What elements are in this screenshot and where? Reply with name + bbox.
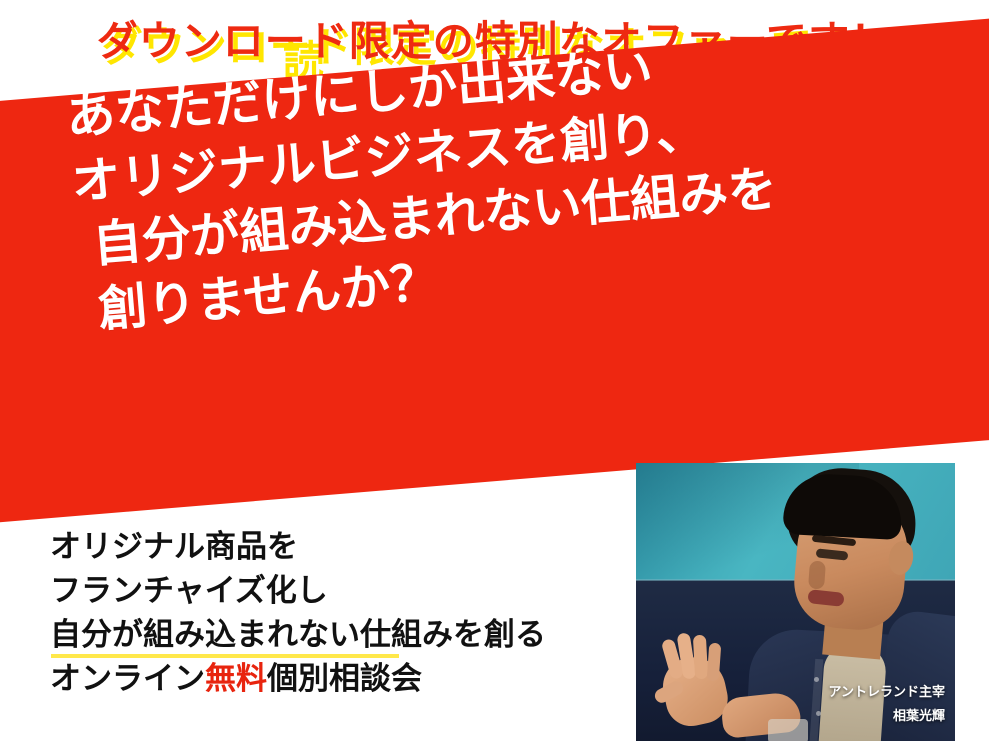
subcopy-line-4-prefix: オンライン bbox=[50, 661, 205, 696]
photo-shirt-button bbox=[814, 677, 819, 682]
photo-shirt-button bbox=[816, 711, 821, 716]
subcopy-line-1: オリジナル商品を bbox=[50, 525, 546, 569]
subcopy-line-3: 自分が組み込まれない仕組みを創る bbox=[50, 617, 546, 652]
subcopy-block: オリジナル商品を フランチャイズ化し 自分が組み込まれない仕組みを創る オンライ… bbox=[50, 525, 546, 701]
photo-cup bbox=[768, 719, 808, 741]
photo-caption-title: アントレランド主宰 bbox=[829, 680, 945, 705]
speaker-photo: アントレランド主宰 相葉光輝 bbox=[636, 463, 955, 741]
photo-caption-name: 相葉光輝 bbox=[829, 704, 945, 729]
red-angled-banner bbox=[0, 17, 989, 523]
subcopy-line-3-wrapper: 自分が組み込まれない仕組みを創る bbox=[50, 613, 546, 657]
photo-nose bbox=[808, 560, 826, 589]
photo-caption: アントレランド主宰 相葉光輝 bbox=[829, 680, 945, 729]
photo-finger bbox=[693, 635, 708, 680]
subcopy-line-4-highlight: 無料 bbox=[205, 661, 267, 696]
slide-canvas: ダウンロード限定の特別なオファーです！ ダウンロード限定の特別なオファーです！ … bbox=[0, 0, 989, 741]
subcopy-line-4-suffix: 個別相談会 bbox=[267, 661, 422, 696]
subcopy-line-2: フランチャイズ化し bbox=[50, 569, 546, 613]
subcopy-line-4-wrapper: オンライン無料個別相談会 bbox=[50, 657, 546, 701]
